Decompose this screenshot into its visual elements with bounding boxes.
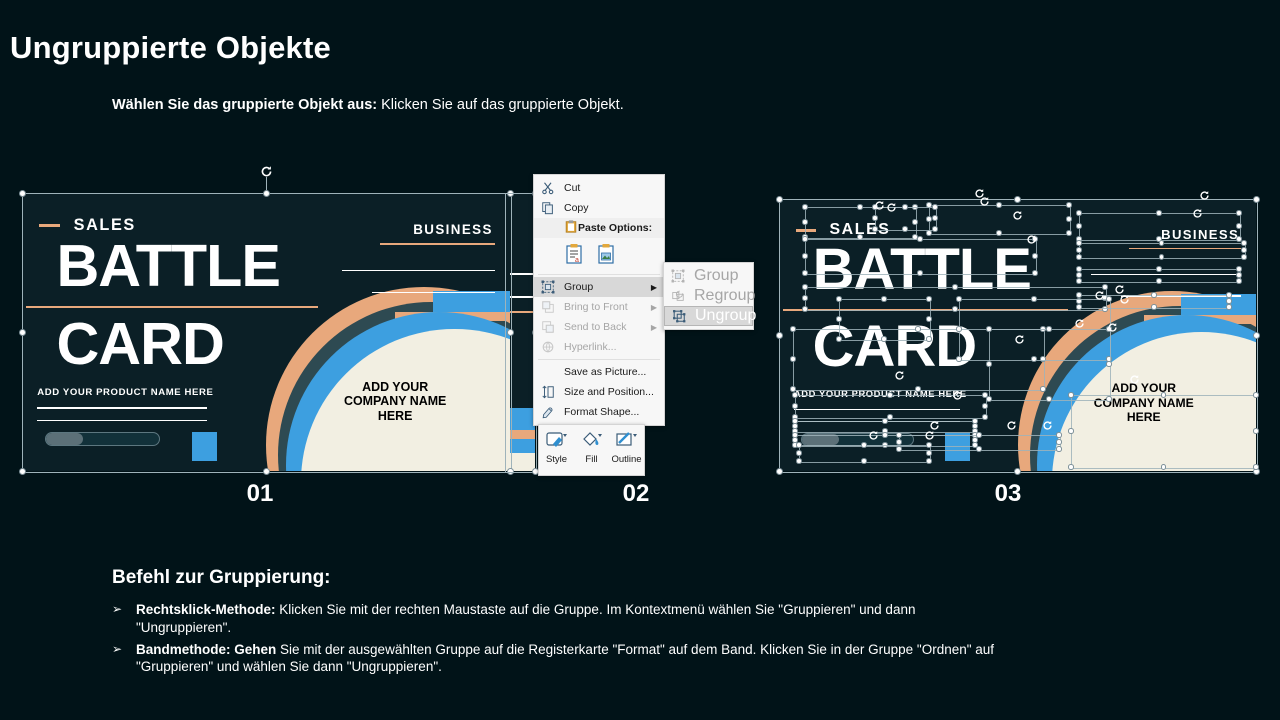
selection-handle[interactable] — [1159, 240, 1165, 246]
selection-handle[interactable] — [776, 468, 783, 475]
selection-handle[interactable] — [1226, 298, 1232, 304]
command-bullet-list: ➢ Rechtsklick-Methode: Klicken Sie mit d… — [112, 601, 1002, 680]
selection-handle[interactable] — [887, 392, 893, 398]
selection-handle[interactable] — [917, 270, 923, 276]
selection-handle[interactable] — [915, 326, 921, 332]
selection-handle[interactable] — [776, 196, 783, 203]
selection-handle[interactable] — [1056, 446, 1062, 452]
rotation-handle[interactable] — [1042, 420, 1053, 431]
bullet-arrow-icon: ➢ — [112, 641, 126, 677]
selection-handle[interactable] — [952, 284, 958, 290]
selection-handle[interactable] — [926, 450, 932, 456]
selection-handle[interactable] — [1076, 223, 1082, 229]
sub-object-selection[interactable] — [1071, 395, 1258, 469]
selection-handle[interactable] — [881, 296, 887, 302]
slide-canvas: Ungruppierte Objekte Wählen Sie das grup… — [0, 0, 1280, 720]
selection-handle[interactable] — [1066, 230, 1072, 236]
rotation-handle[interactable] — [1114, 284, 1125, 295]
rotation-handle[interactable] — [1074, 318, 1085, 329]
command-bullet: ➢ Bandmethode: Gehen Sie mit der ausgewä… — [112, 641, 1002, 677]
selection-handle[interactable] — [790, 356, 796, 362]
selection-handle[interactable] — [790, 326, 796, 332]
rotation-handle[interactable] — [1012, 210, 1023, 221]
selection-handle[interactable] — [1159, 254, 1165, 260]
selection-handle[interactable] — [836, 336, 842, 342]
selection-handle[interactable] — [1031, 296, 1037, 302]
selection-handle[interactable] — [982, 403, 988, 409]
selection-handle[interactable] — [1253, 428, 1259, 434]
selection-handle[interactable] — [802, 236, 808, 242]
selection-handle[interactable] — [857, 204, 863, 210]
rotation-handle[interactable] — [924, 430, 935, 441]
selection-handle[interactable] — [857, 234, 863, 240]
selection-handle[interactable] — [882, 442, 888, 448]
selection-handle[interactable] — [796, 450, 802, 456]
selection-handle[interactable] — [956, 356, 962, 362]
selection-handle[interactable] — [1106, 361, 1112, 367]
command-bullet: ➢ Rechtsklick-Methode: Klicken Sie mit d… — [112, 601, 1002, 637]
selection-handle[interactable] — [1236, 272, 1242, 278]
selection-handle[interactable] — [1031, 356, 1037, 362]
selection-handle[interactable] — [1076, 254, 1082, 260]
rotation-handle[interactable] — [868, 430, 879, 441]
selection-handle[interactable] — [1056, 432, 1062, 438]
selection-handle[interactable] — [1161, 464, 1167, 470]
selection-handle[interactable] — [1253, 332, 1260, 339]
selection-handle[interactable] — [1241, 254, 1247, 260]
rotation-handle[interactable] — [1107, 322, 1118, 333]
sub-object-selection[interactable] — [989, 329, 1111, 401]
selection-handle[interactable] — [802, 253, 808, 259]
selection-handle[interactable] — [796, 442, 802, 448]
rotation-handle[interactable] — [1199, 190, 1210, 201]
sub-object-selection[interactable] — [959, 299, 1111, 361]
selection-handle[interactable] — [926, 230, 932, 236]
selection-handle[interactable] — [796, 458, 802, 464]
selection-handle[interactable] — [982, 414, 988, 420]
selection-handle[interactable] — [1106, 396, 1112, 402]
selection-handle[interactable] — [926, 316, 932, 322]
selection-handle[interactable] — [1068, 464, 1074, 470]
selection-handle[interactable] — [926, 442, 932, 448]
selection-handle[interactable] — [1076, 266, 1082, 272]
selection-handle[interactable] — [1076, 247, 1082, 253]
selection-handle[interactable] — [1076, 240, 1082, 246]
selection-handle[interactable] — [1253, 464, 1259, 470]
selection-handle[interactable] — [1068, 428, 1074, 434]
selection-handle[interactable] — [881, 336, 887, 342]
selection-handle[interactable] — [932, 226, 938, 232]
selection-handle[interactable] — [1040, 356, 1046, 362]
selection-handle[interactable] — [1241, 247, 1247, 253]
selection-handle[interactable] — [1236, 223, 1242, 229]
selection-handle[interactable] — [1014, 468, 1021, 475]
selection-handle[interactable] — [1106, 296, 1112, 302]
selection-handle[interactable] — [792, 392, 798, 398]
rotation-handle[interactable] — [952, 390, 963, 401]
selection-handle[interactable] — [932, 204, 938, 210]
sub-object-selection[interactable] — [839, 299, 931, 341]
selection-handle[interactable] — [996, 230, 1002, 236]
selection-handle[interactable] — [1032, 270, 1038, 276]
selection-handle[interactable] — [1046, 326, 1052, 332]
selection-handle[interactable] — [926, 336, 932, 342]
selection-handle[interactable] — [1161, 392, 1167, 398]
selection-handle[interactable] — [956, 326, 962, 332]
selection-handle[interactable] — [986, 361, 992, 367]
selection-handle[interactable] — [926, 216, 932, 222]
selection-handle[interactable] — [1040, 386, 1046, 392]
selection-handle[interactable] — [902, 226, 908, 232]
selection-handle[interactable] — [792, 403, 798, 409]
selection-handle[interactable] — [1040, 326, 1046, 332]
selection-handle[interactable] — [896, 446, 902, 452]
selection-handle[interactable] — [802, 306, 808, 312]
selection-handle[interactable] — [802, 284, 808, 290]
rotation-handle[interactable] — [974, 188, 985, 199]
selection-handle[interactable] — [1156, 266, 1162, 272]
selection-handle[interactable] — [1241, 240, 1247, 246]
selection-handle[interactable] — [1236, 266, 1242, 272]
rotation-handle[interactable] — [1094, 290, 1105, 301]
selection-handle[interactable] — [1032, 253, 1038, 259]
selection-handle[interactable] — [996, 202, 1002, 208]
selection-handle[interactable] — [887, 414, 893, 420]
bullet-text: Rechtsklick-Methode: Klicken Sie mit der… — [136, 601, 1002, 637]
selection-handle[interactable] — [1014, 196, 1021, 203]
selection-handle[interactable] — [1046, 396, 1052, 402]
selection-handle[interactable] — [836, 296, 842, 302]
selection-handle[interactable] — [1253, 392, 1259, 398]
selection-handle[interactable] — [802, 295, 808, 301]
selection-handle[interactable] — [1226, 292, 1232, 298]
rotation-handle[interactable] — [886, 202, 897, 213]
rotation-handle[interactable] — [1026, 234, 1037, 245]
selection-handle[interactable] — [872, 226, 878, 232]
selection-handle[interactable] — [872, 215, 878, 221]
rotation-handle[interactable] — [1119, 294, 1130, 305]
selection-handle[interactable] — [902, 204, 908, 210]
selection-handle[interactable] — [1102, 306, 1108, 312]
selection-handle[interactable] — [917, 236, 923, 242]
selection-handle[interactable] — [1156, 278, 1162, 284]
selection-handle[interactable] — [1076, 210, 1082, 216]
sub-object-selection[interactable] — [793, 329, 1045, 391]
selection-handle[interactable] — [986, 396, 992, 402]
selection-handle[interactable] — [861, 458, 867, 464]
selection-handle[interactable] — [1076, 272, 1082, 278]
selection-handle[interactable] — [802, 270, 808, 276]
selection-handle[interactable] — [802, 219, 808, 225]
rotation-handle[interactable] — [1014, 334, 1025, 345]
selection-handle[interactable] — [932, 215, 938, 221]
selection-handle[interactable] — [1226, 304, 1232, 310]
selection-handle[interactable] — [912, 219, 918, 225]
selection-handle[interactable] — [976, 446, 982, 452]
selection-handle[interactable] — [861, 442, 867, 448]
selection-handle[interactable] — [1076, 304, 1082, 310]
selection-handle[interactable] — [1236, 210, 1242, 216]
rotation-handle[interactable] — [1192, 208, 1203, 219]
selection-handle[interactable] — [956, 296, 962, 302]
selection-handle[interactable] — [912, 204, 918, 210]
selection-handle[interactable] — [1236, 278, 1242, 284]
selection-handle[interactable] — [790, 386, 796, 392]
selection-handle[interactable] — [915, 386, 921, 392]
selection-handle[interactable] — [1056, 439, 1062, 445]
selection-handle[interactable] — [1068, 392, 1074, 398]
selection-handle[interactable] — [1066, 216, 1072, 222]
step-label-03: 03 — [948, 480, 1068, 508]
selection-handle[interactable] — [952, 306, 958, 312]
rotation-handle[interactable] — [1006, 420, 1017, 431]
selection-handle[interactable] — [1076, 298, 1082, 304]
selection-handle[interactable] — [776, 332, 783, 339]
selection-handle[interactable] — [926, 202, 932, 208]
bullet-text: Bandmethode: Gehen Sie mit der ausgewähl… — [136, 641, 1002, 677]
selection-handle[interactable] — [1076, 278, 1082, 284]
selection-handle[interactable] — [1156, 210, 1162, 216]
selection-handle[interactable] — [1151, 304, 1157, 310]
command-heading: Befehl zur Gruppierung: — [112, 567, 331, 589]
bullet-arrow-icon: ➢ — [112, 601, 126, 637]
selection-handle[interactable] — [802, 204, 808, 210]
selection-handle[interactable] — [1253, 196, 1260, 203]
selection-handle[interactable] — [836, 316, 842, 322]
selection-handle[interactable] — [1076, 292, 1082, 298]
selection-handle[interactable] — [896, 439, 902, 445]
selection-handle[interactable] — [1151, 292, 1157, 298]
rotation-handle[interactable] — [874, 200, 885, 211]
selection-handle[interactable] — [1066, 202, 1072, 208]
selection-handle[interactable] — [896, 432, 902, 438]
selection-handle[interactable] — [926, 458, 932, 464]
selection-handle[interactable] — [882, 418, 888, 424]
selection-handle[interactable] — [882, 432, 888, 438]
selection-handle[interactable] — [986, 326, 992, 332]
selection-handle[interactable] — [926, 296, 932, 302]
selection-handle[interactable] — [976, 432, 982, 438]
rotation-handle[interactable] — [1129, 374, 1140, 385]
rotation-handle[interactable] — [894, 370, 905, 381]
